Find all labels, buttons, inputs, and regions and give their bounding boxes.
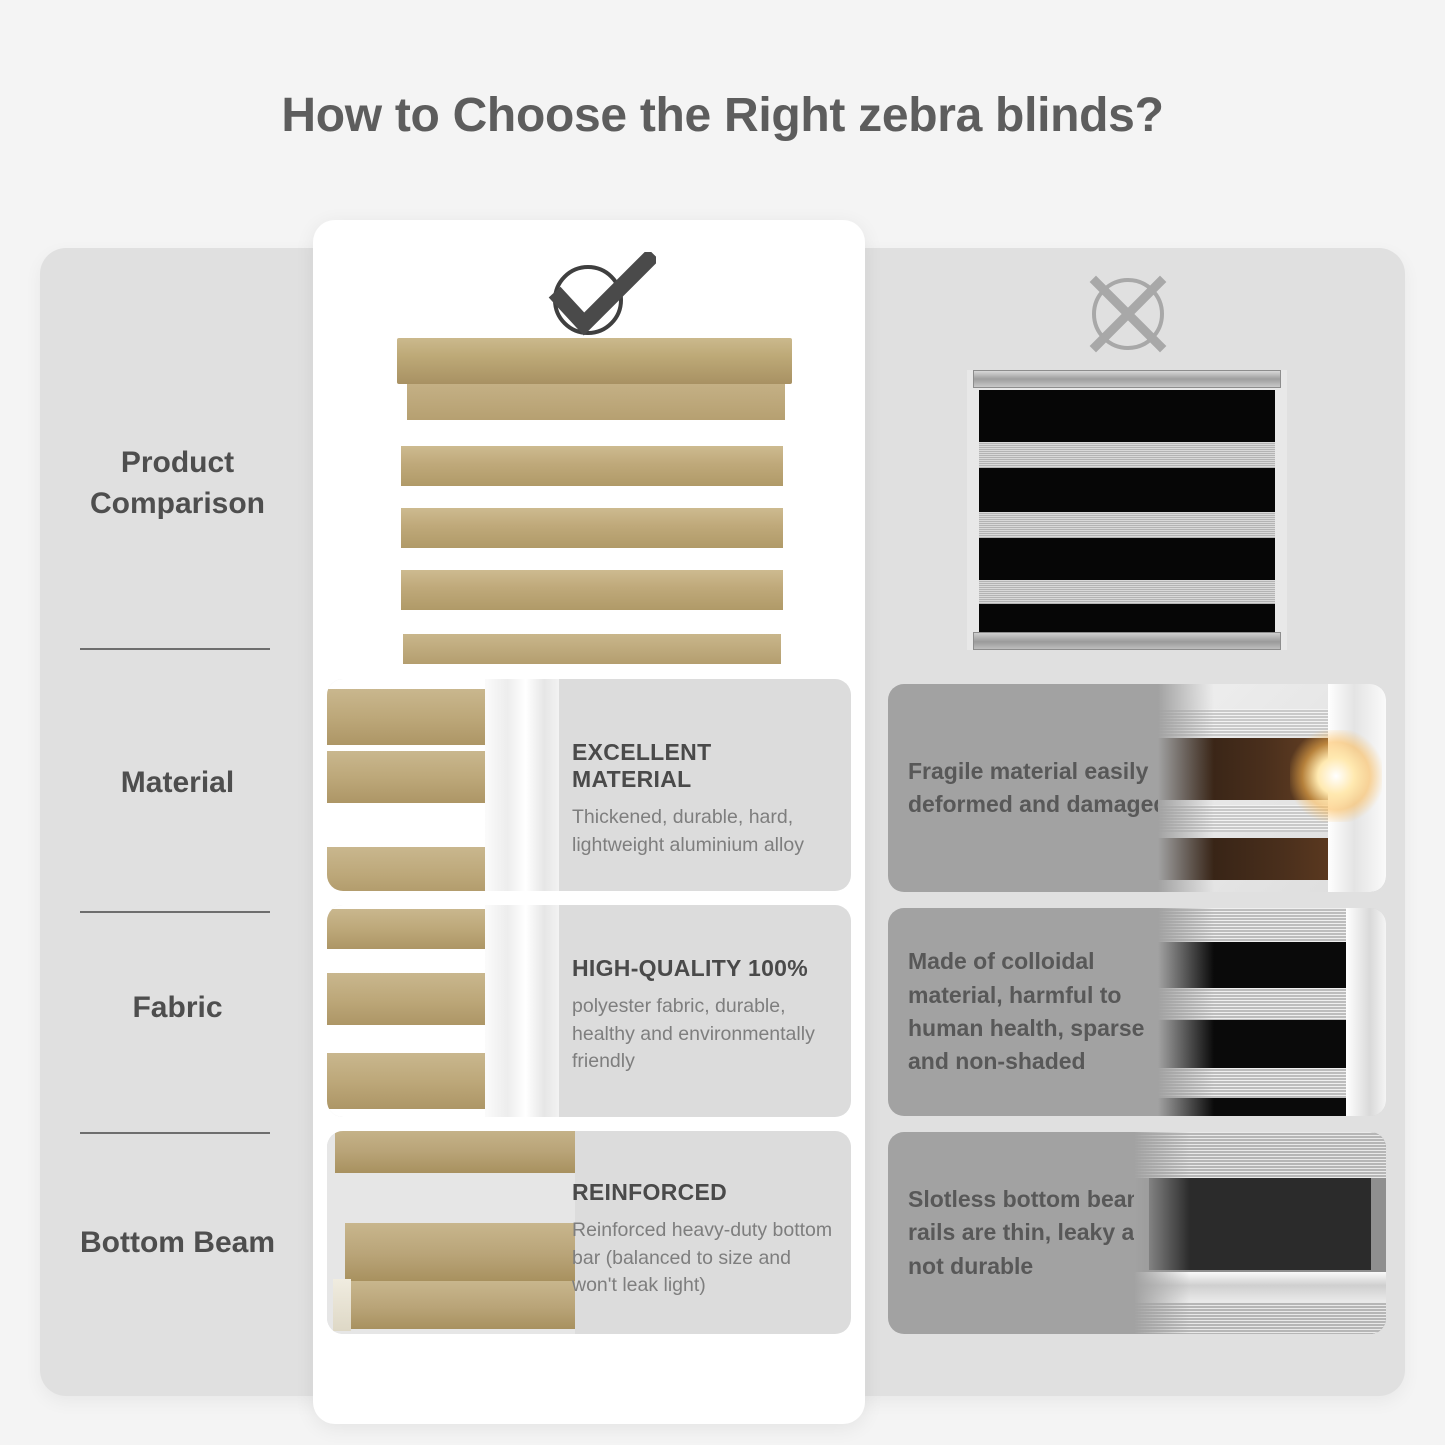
row-divider-1 [80, 648, 270, 650]
row-label-bottom-beam: Bottom Beam [40, 1178, 315, 1308]
bad-material-text: Fragile material easily deformed and dam… [908, 684, 1170, 892]
infographic-page: How to Choose the Right zebra blinds? Pr… [0, 0, 1445, 1445]
beige-bottom-bar [403, 634, 781, 664]
good-material-photo [327, 679, 559, 891]
bad-beam-text: Slotless bottom beam rails are thin, lea… [908, 1132, 1170, 1334]
beige-slat [401, 446, 783, 486]
good-feature-card-fabric: HIGH-QUALITY 100% polyester fabric, dura… [327, 905, 851, 1117]
good-fabric-title: HIGH-QUALITY 100% [572, 955, 833, 982]
beige-slat [401, 570, 783, 610]
bad-feature-card-material: Fragile material easily deformed and dam… [888, 684, 1386, 892]
row-divider-2 [80, 911, 270, 913]
black-band [979, 390, 1275, 442]
bad-material-photo [1158, 684, 1386, 892]
row-label-material: Material [40, 743, 315, 823]
bad-hero-image [967, 370, 1287, 650]
bad-feature-card-beam: Slotless bottom beam rails are thin, lea… [888, 1132, 1386, 1334]
sheer-band [979, 442, 1275, 468]
beige-fabric-closeup [327, 905, 485, 1117]
beige-slat [401, 508, 783, 548]
bad-fabric-photo [1158, 908, 1386, 1116]
bad-beam-photo [1134, 1132, 1386, 1334]
window-frame [485, 679, 559, 891]
row-label-column: Product Comparison Material Fabric Botto… [40, 248, 315, 1396]
row-divider-3 [80, 1132, 270, 1134]
beige-bottom-beam-closeup [327, 1131, 575, 1334]
black-band [979, 604, 1275, 632]
good-material-title: EXCELLENT MATERIAL [572, 739, 833, 793]
good-beam-photo [327, 1131, 575, 1334]
row-label-product-comparison: Product Comparison [40, 418, 315, 548]
good-beam-text: REINFORCED Reinforced heavy-duty bottom … [572, 1179, 833, 1300]
bad-feature-card-fabric: Made of colloidal material, harmful to h… [888, 908, 1386, 1116]
good-feature-card-material: EXCELLENT MATERIAL Thickened, durable, h… [327, 679, 851, 891]
good-beam-title: REINFORCED [572, 1179, 833, 1206]
black-headrail [973, 370, 1281, 388]
row-label-fabric: Fabric [40, 968, 315, 1048]
good-fabric-photo [327, 905, 559, 1117]
good-fabric-description: polyester fabric, durable, healthy and e… [572, 993, 833, 1076]
window-frame [485, 905, 559, 1117]
good-feature-card-beam: REINFORCED Reinforced heavy-duty bottom … [327, 1131, 851, 1334]
sheer-band [979, 512, 1275, 538]
good-material-description: Thickened, durable, hard, lightweight al… [572, 804, 833, 859]
bad-fabric-text: Made of colloidal material, harmful to h… [908, 908, 1170, 1116]
beige-blind-closeup [327, 679, 485, 891]
good-material-text: EXCELLENT MATERIAL Thickened, durable, h… [572, 739, 833, 859]
check-circle-icon [536, 252, 656, 342]
page-title: How to Choose the Right zebra blinds? [0, 88, 1445, 143]
beige-headrail [397, 338, 792, 384]
beige-headrail-lip [407, 384, 785, 420]
black-band [979, 538, 1275, 580]
sheer-band [979, 580, 1275, 604]
sun-flare-icon [1290, 730, 1382, 822]
black-band [979, 468, 1275, 512]
black-bottom-rail [973, 632, 1281, 650]
x-circle-icon [1082, 268, 1174, 360]
good-beam-description: Reinforced heavy-duty bottom bar (balanc… [572, 1217, 833, 1300]
good-hero-image [391, 338, 795, 668]
good-fabric-text: HIGH-QUALITY 100% polyester fabric, dura… [572, 955, 833, 1076]
